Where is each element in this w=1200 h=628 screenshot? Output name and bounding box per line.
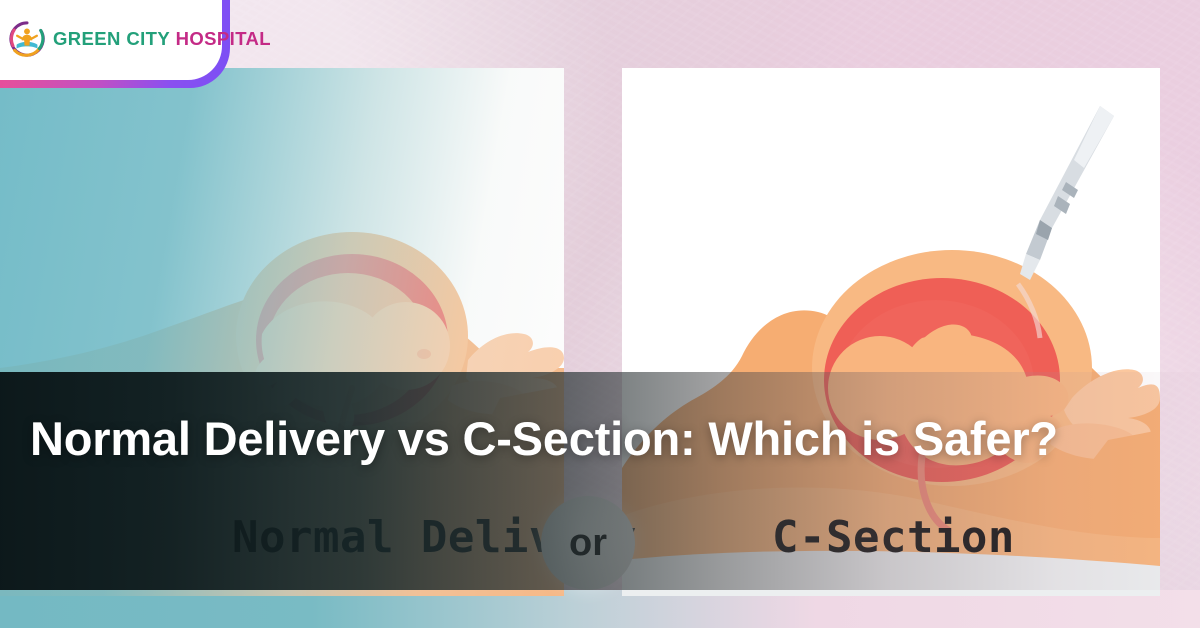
headline-scrim (0, 372, 1200, 590)
brand-lockup[interactable]: GREEN CITY HOSPITAL (8, 20, 271, 58)
page-title: Normal Delivery vs C-Section: Which is S… (30, 412, 1150, 467)
brand-name: GREEN CITY HOSPITAL (53, 28, 271, 50)
banner-canvas: Normal Delivery C-Section or Normal Deli… (0, 0, 1200, 628)
brand-name-primary: GREEN CITY (53, 28, 170, 49)
circular-swoosh-person-logo-icon (8, 20, 46, 58)
brand-name-secondary: HOSPITAL (176, 28, 271, 49)
